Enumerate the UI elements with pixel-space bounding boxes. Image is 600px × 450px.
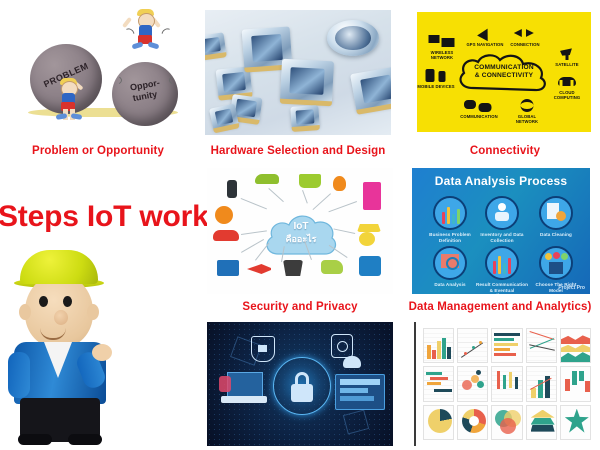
node-label: SATELLITE [547,62,587,67]
step-label: Inventory and Data Collection [474,232,530,243]
motion-line [98,74,122,87]
panel-data-analysis: Data Analysis Process Business Problem D… [412,168,590,294]
chip-component [290,105,319,129]
worker-hand [92,344,112,361]
step-inventory-data-collection: Inventory and Data Collection [474,196,530,243]
worker-left-arm [8,352,30,398]
iot-cloud-label: IoT คืออะไร [262,220,340,246]
collage-canvas: PROBLEM Oppor- tunity Problem or Opportu… [0,0,600,450]
stacked-area-thumb [560,328,591,363]
node-communication: COMMUNICATION [459,98,499,119]
data-analysis-title: Data Analysis Process [412,174,590,188]
node-gps-navigation: GPS NAVIGATION [465,26,505,47]
connector-line [328,201,357,212]
project-pro-watermark: Project Pro [558,285,585,291]
round-component [327,20,379,56]
panel-connectivity: COMMUNICATION & CONNECTIVITY GPS NAVIGAT… [417,12,591,132]
node-label: WIRELESS NETWORK [422,50,462,60]
monitor-data-icon [335,374,385,410]
fan-icon [215,206,233,224]
step-data-analysis: Data Analysis [422,246,478,288]
connection-arrows-icon [505,26,545,41]
connector-line [302,190,308,203]
worker-shoe [68,434,102,445]
caption-security: Security and Privacy [200,301,400,313]
panel-iot-things: IoT คืออะไร [207,168,393,294]
step-business-problem-definition: Business Problem Definition [422,196,478,243]
iot-cloud-line-1: IoT [262,220,340,233]
lightbulb-icon [333,176,346,191]
wireless-network-icon [422,34,462,49]
combo-bar-thumb [526,366,557,401]
data-collection-icon [485,196,519,230]
node-label: MOBILE DEVICES [417,84,456,89]
worker-eye [63,296,72,307]
airplane-icon [247,264,271,274]
caption-problem-opportunity: Problem or Opportunity [8,145,188,157]
unlock-key-icon [331,334,353,358]
shopping-cart-icon [283,260,303,276]
node-satellite: SATELLITE [547,46,587,67]
smartphone-icon [227,180,237,198]
worker-ear [19,304,31,320]
donut-chart-thumb [457,405,488,440]
caption-hardware: Hardware Selection and Design [198,145,398,157]
venn-diagram-thumb [491,405,522,440]
center-line-2: & CONNECTIVITY [459,72,549,80]
worker-shoe [18,434,52,445]
candlestick-thumb [491,366,522,401]
bar-chart-people-icon [485,246,519,280]
chip-component [350,66,391,112]
choose-model-icon [539,246,573,280]
construction-worker-figure [6,248,118,446]
chart-thumbnail-grid [423,328,591,440]
chip-component [205,32,226,57]
radar-chart-thumb [560,405,591,440]
magnifier-chart-icon [433,246,467,280]
connector-line [312,193,331,210]
paper-plane-icon [465,26,505,41]
multi-line-thumb [526,328,557,363]
node-cloud-computing: CLOUD COMPUTING [547,74,587,100]
gantt-bar-thumb [423,366,454,401]
satellite-icon [547,46,587,61]
refrigerator-icon [363,182,381,210]
node-mobile-devices: MOBILE DEVICES [417,68,456,89]
chip-component [280,59,334,104]
laptop-hacker-icon [217,368,269,412]
connector-line [268,188,284,202]
bubble-chart-thumb [457,366,488,401]
hard-hat-icon [20,250,98,284]
panel-problem-opportunity: PROBLEM Oppor- tunity [8,4,188,136]
tv-icon [217,260,239,276]
step-label: Data Cleaning [528,232,584,238]
shield-lock-icon [251,336,275,362]
column-chart-thumb [423,328,454,363]
waterfall-thumb [560,366,591,401]
node-label: CONNECTION [505,42,545,47]
mobile-devices-icon [417,68,456,83]
lamp-base-icon [359,232,375,246]
node-label: CLOUD COMPUTING [547,90,587,100]
connectivity-center-label: COMMUNICATION & CONNECTIVITY [459,64,549,81]
pot-icon [299,174,321,188]
globe-network-icon [507,98,547,113]
caption-data-management: Data Management and Analytics) [400,301,600,313]
step-label: Result Communication & Eventual Readjust… [474,282,530,294]
caption-connectivity: Connectivity [420,145,590,157]
node-label: GLOBAL NETWORK [507,114,547,124]
opportunity-rock: Oppor- tunity [112,62,178,126]
pyramid-chart-thumb [526,405,557,440]
lamp-icon [357,224,381,232]
kettle-icon [321,260,343,274]
node-global-network: GLOBAL NETWORK [507,98,547,124]
padlock-shackle-icon [295,372,309,388]
node-label: GPS NAVIGATION [465,42,505,47]
worker-ear [87,304,99,320]
motion-line [169,74,188,87]
page-title: Steps IoT work [0,200,209,234]
cloud-upload-icon [547,74,587,89]
panel-security [207,322,393,446]
chip-component [209,104,239,131]
people-chart-icon [433,196,467,230]
step-result-communication: Result Communication & Eventual Readjust… [474,246,530,294]
speech-bubbles-icon [459,98,499,113]
carrying-boy [52,78,88,118]
node-wireless-network: WIRELESS NETWORK [422,34,462,60]
node-label: COMMUNICATION [459,114,499,119]
pie-chart-thumb [423,405,454,440]
worker-eye [39,296,48,307]
sneaker-icon [255,174,279,184]
panel-hardware [205,10,391,135]
step-data-cleaning: Data Cleaning [528,196,584,238]
panel-charts-grid [414,322,594,446]
step-label: Data Analysis [422,282,478,288]
car-icon [213,230,239,241]
document-gear-icon [539,196,573,230]
node-connection: CONNECTION [505,26,545,47]
step-label: Business Problem Definition [422,232,478,243]
security-watermark [386,436,387,441]
washing-machine-icon [359,256,381,276]
horizontal-bar-thumb [491,328,522,363]
connector-line [241,198,267,209]
scatter-trend-thumb [457,328,488,363]
cloud-users-icon [343,356,361,368]
worker-nose [54,310,68,325]
center-line-1: COMMUNICATION [459,64,549,72]
